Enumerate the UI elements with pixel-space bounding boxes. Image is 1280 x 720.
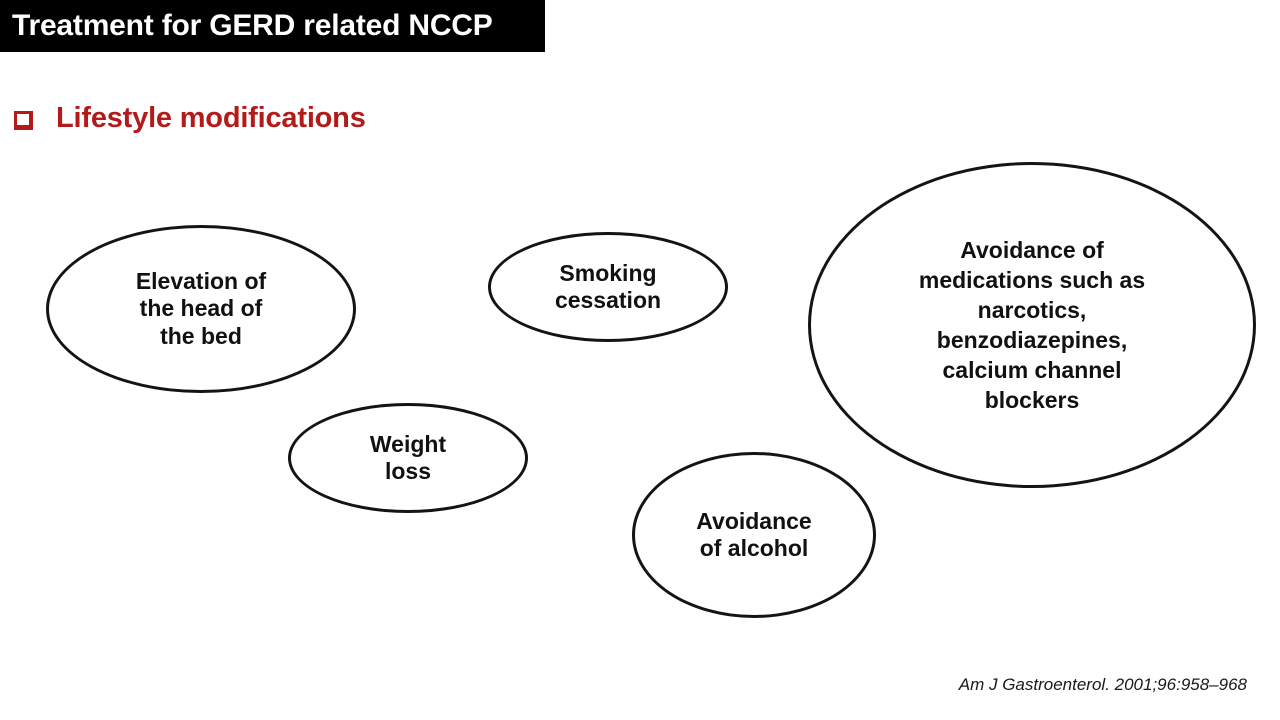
slide-title-bar: Treatment for GERD related NCCP: [0, 0, 545, 52]
ellipse-weight-loss: Weightloss: [288, 403, 528, 513]
source-citation: Am J Gastroenterol. 2001;96:958–968: [959, 676, 1247, 693]
page-title: Treatment for GERD related NCCP: [12, 11, 493, 41]
ellipse-label: Weightloss: [364, 431, 452, 486]
ellipse-label: Smokingcessation: [549, 260, 667, 315]
ellipse-label: Elevation ofthe head ofthe bed: [130, 268, 272, 350]
ellipse-label: Avoidance ofmedications such asnarcotics…: [913, 235, 1151, 416]
ellipse-smoking-cessation: Smokingcessation: [488, 232, 728, 342]
ellipse-elevation-of-head-of-bed: Elevation ofthe head ofthe bed: [46, 225, 356, 393]
ellipse-label: Avoidanceof alcohol: [690, 508, 817, 563]
ellipse-avoidance-of-medications: Avoidance ofmedications such asnarcotics…: [808, 162, 1256, 488]
lifestyle-modifications-heading: Lifestyle modifications: [14, 104, 366, 133]
ellipse-avoidance-of-alcohol: Avoidanceof alcohol: [632, 452, 876, 618]
heading-label: Lifestyle modifications: [56, 104, 366, 133]
hollow-square-bullet-icon: [14, 111, 33, 130]
